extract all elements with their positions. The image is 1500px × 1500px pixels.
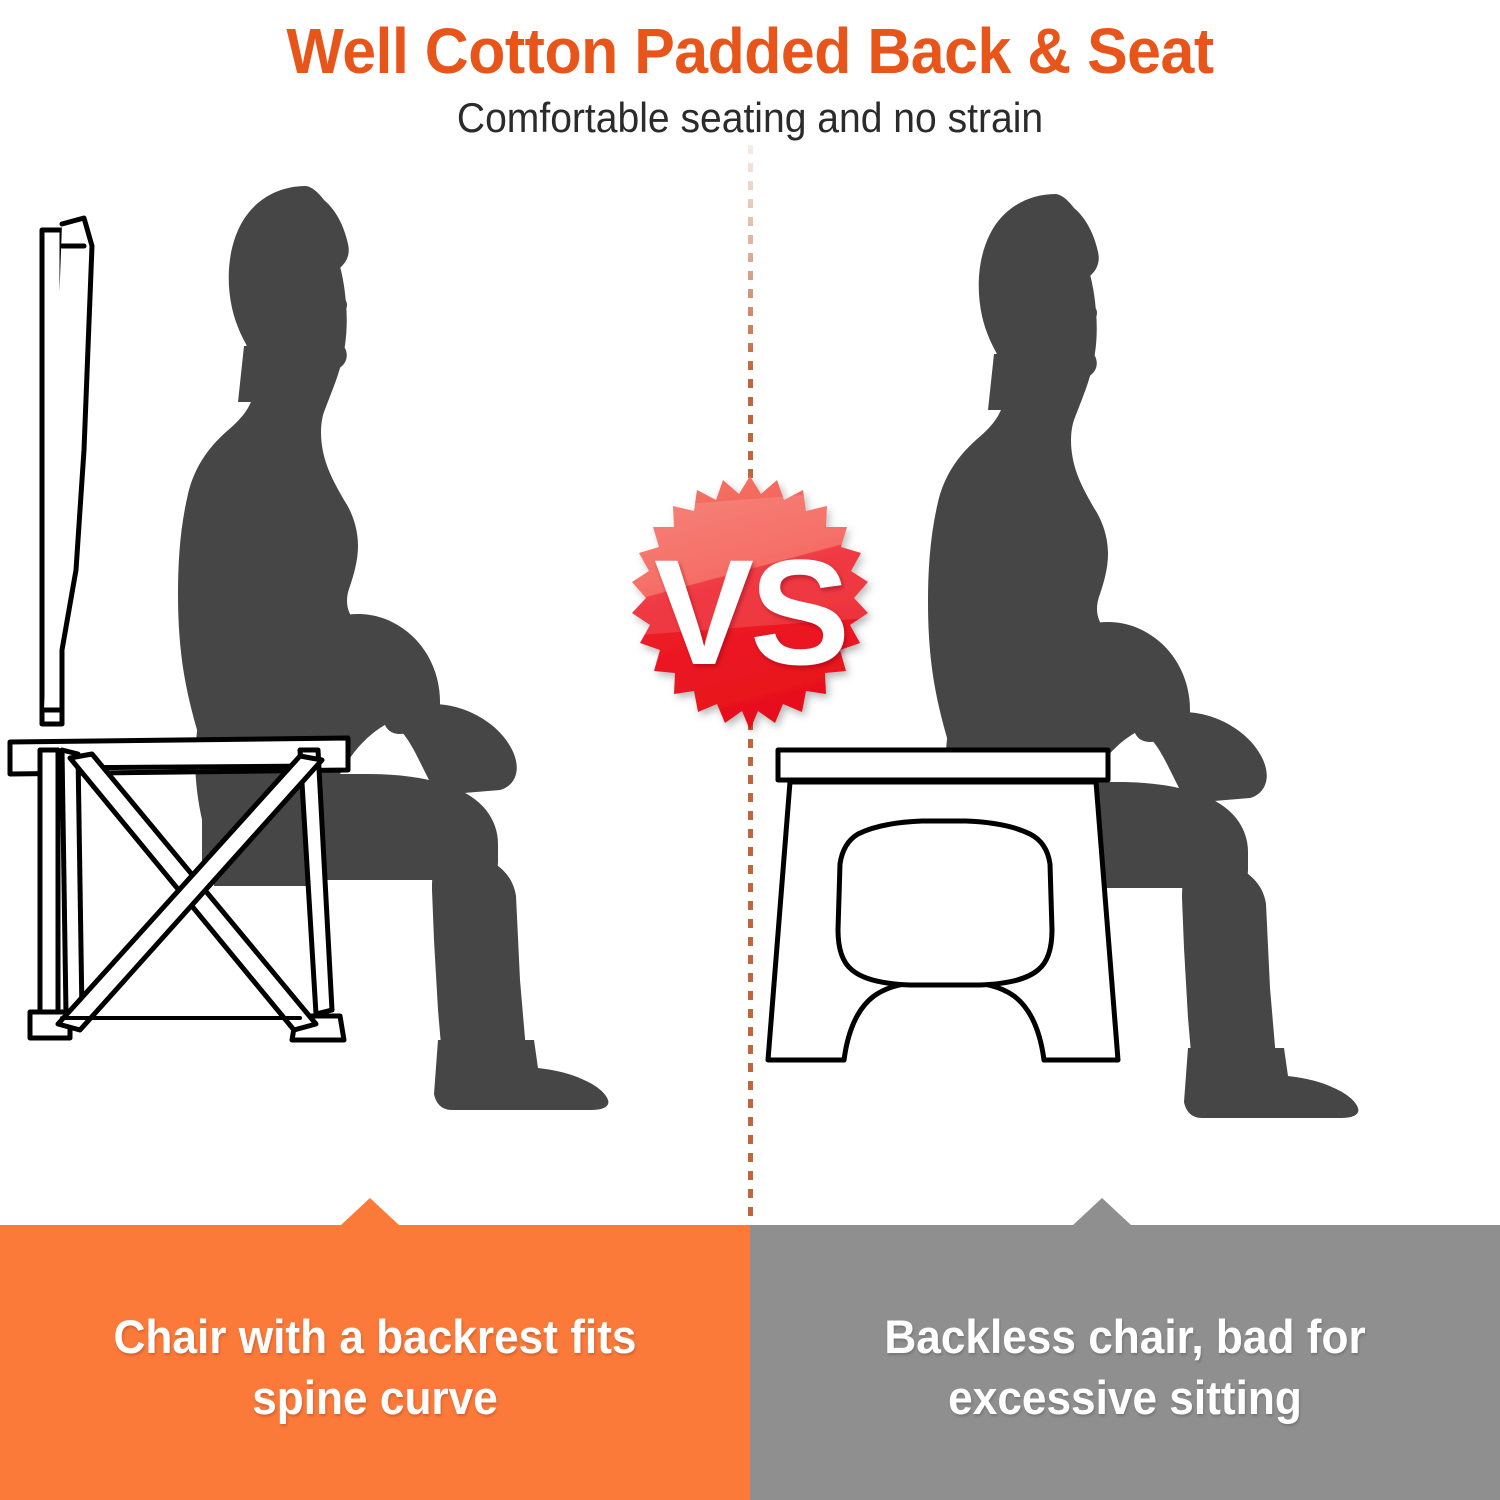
plastic-step-stool-icon	[768, 750, 1118, 1060]
caption-bar-positive: Chair with a backrest fits spine curve	[0, 1225, 750, 1500]
caption-right-text: Backless chair, bad for excessive sittin…	[824, 1307, 1426, 1427]
vs-badge: VS	[600, 468, 900, 768]
caption-left-text: Chair with a backrest fits spine curve	[74, 1307, 676, 1427]
caption-pointer-right	[1073, 1198, 1131, 1225]
comparison-infographic: Well Cotton Padded Back & Seat Comfortab…	[0, 0, 1500, 1500]
header: Well Cotton Padded Back & Seat Comfortab…	[0, 0, 1500, 142]
caption-pointer-left	[341, 1198, 399, 1225]
page-title: Well Cotton Padded Back & Seat	[38, 0, 1463, 88]
badge-label: VS	[654, 528, 846, 696]
caption-bar-negative: Backless chair, bad for excessive sittin…	[750, 1225, 1500, 1500]
page-subtitle: Comfortable seating and no strain	[53, 88, 1448, 142]
